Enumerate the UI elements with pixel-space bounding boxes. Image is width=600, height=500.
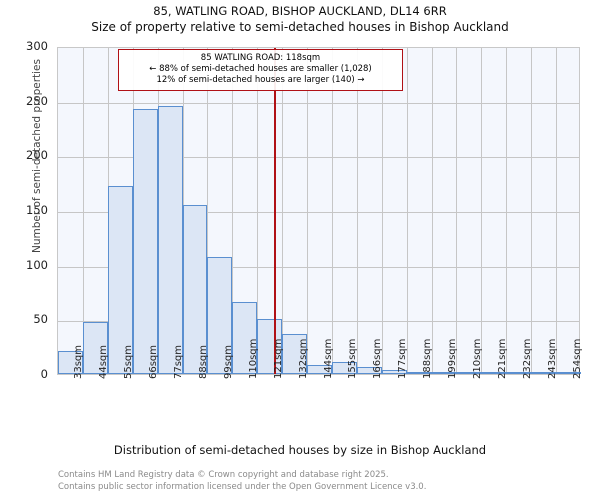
plot-area xyxy=(57,47,580,375)
x-tick-label: 210sqm xyxy=(472,339,483,379)
x-tick-label: 243sqm xyxy=(547,339,558,379)
x-tick-label: 33sqm xyxy=(73,345,84,379)
x-tick-label: 166sqm xyxy=(372,339,383,379)
footer-attribution-line-1: Contains HM Land Registry data © Crown c… xyxy=(58,470,389,480)
x-tick-label: 88sqm xyxy=(198,345,209,379)
x-tick-label: 221sqm xyxy=(497,339,508,379)
x-tick-label: 199sqm xyxy=(447,339,458,379)
x-tick-label: 77sqm xyxy=(173,345,184,379)
x-tick-label: 99sqm xyxy=(223,345,234,379)
annotation-line-1: 85 WATLING ROAD: 118sqm xyxy=(123,53,398,64)
x-tick-label: 232sqm xyxy=(522,339,533,379)
annotation-line-3: 12% of semi-detached houses are larger (… xyxy=(123,75,398,86)
annotation-box: 85 WATLING ROAD: 118sqm ← 88% of semi-de… xyxy=(118,49,403,91)
x-tick-label: 177sqm xyxy=(397,339,408,379)
x-tick-label: 66sqm xyxy=(148,345,159,379)
y-tick-label: 50 xyxy=(2,312,48,326)
x-tick-label: 254sqm xyxy=(572,339,583,379)
x-tick-label: 55sqm xyxy=(123,345,134,379)
annotation-line-2: ← 88% of semi-detached houses are smalle… xyxy=(123,64,398,75)
x-axis-label: Distribution of semi-detached houses by … xyxy=(0,443,600,457)
y-tick-label: 0 xyxy=(2,367,48,381)
footer-attribution-line-2: Contains public sector information licen… xyxy=(58,482,426,492)
marker-line xyxy=(274,48,276,374)
chart-page: 85, WATLING ROAD, BISHOP AUCKLAND, DL14 … xyxy=(0,0,600,500)
x-tick-label: 121sqm xyxy=(273,339,284,379)
x-tick-label: 188sqm xyxy=(422,339,433,379)
x-tick-label: 132sqm xyxy=(298,339,309,379)
x-tick-label: 144sqm xyxy=(323,339,334,379)
y-axis-label: Number of semi-detached properties xyxy=(31,11,43,301)
property-marker xyxy=(58,48,579,374)
x-tick-label: 155sqm xyxy=(347,339,358,379)
x-tick-label: 110sqm xyxy=(248,339,259,379)
x-tick-label: 44sqm xyxy=(98,345,109,379)
